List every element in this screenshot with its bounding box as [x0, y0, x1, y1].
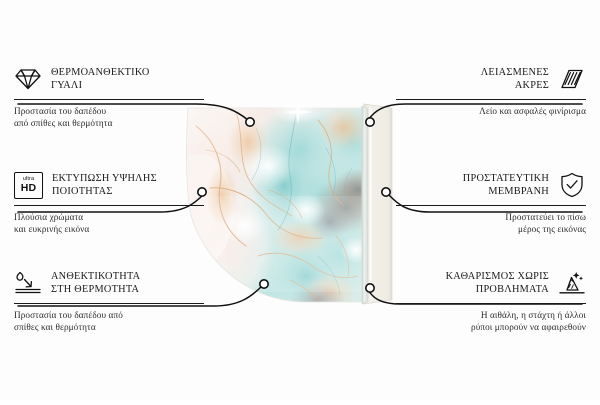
feature-header: ΛΕΙΑΣΜΕΝΕΣ ΑΚΡΕΣ — [396, 64, 586, 94]
connector-dot-left-1 — [246, 118, 254, 126]
feature-divider — [396, 303, 586, 304]
feature-easy-cleaning: ΚΑΘΑΡΙΣΜΟΣ ΧΩΡΙΣ ΠΡΟΒΛΗΜΑΤΑ Η αιθάλη, η … — [396, 268, 586, 334]
feature-description: Η αιθάλη, η στάχτη ή άλλοι ρύποι μπορούν… — [396, 309, 586, 334]
ultra-hd-icon-big-label: HD — [21, 183, 37, 194]
connector-dot-right-2 — [382, 188, 390, 196]
polished-edges-icon — [558, 65, 586, 93]
feature-description: Πλούσια χρώματα και ευκρινής εικόνα — [14, 211, 204, 236]
artwork-outline — [186, 108, 362, 302]
feature-heat-resistance: ΑΝΘΕΚΤΙΚΟΤΗΤΑ ΣΤΗ ΘΕΡΜΟΤΗΤΑ Προστασία το… — [14, 268, 204, 334]
feature-divider — [14, 205, 204, 206]
feature-title: ΛΕΙΑΣΜΕΝΕΣ ΑΚΡΕΣ — [396, 66, 549, 92]
connector-dot-left-3 — [260, 280, 268, 288]
feature-description: Προστατεύει το πίσω μέρος της εικόνας — [396, 211, 586, 236]
easy-clean-icon — [558, 269, 586, 297]
infographic-stage: ΘΕΡΜΟΑΝΘΕΚΤΙΚΟ ΓΥΑΛΙ Προστασία του δαπέδ… — [0, 0, 600, 400]
feature-divider — [14, 303, 204, 304]
feature-description: Λείο και ασφαλές φινίρισμα — [396, 105, 586, 117]
connector-dot-right-3 — [366, 284, 374, 292]
glass-sheen — [185, 104, 367, 306]
feature-title: ΘΕΡΜΟΑΝΘΕΚΤΙΚΟ ΓΥΑΛΙ — [51, 66, 204, 92]
feature-title: ΠΡΟΣΤΑΤΕΥΤΙΚΗ ΜΕΜΒΡΑΝΗ — [396, 172, 549, 198]
feature-header: ΑΝΘΕΚΤΙΚΟΤΗΤΑ ΣΤΗ ΘΕΡΜΟΤΗΤΑ — [14, 268, 204, 298]
feature-title: ΚΑΘΑΡΙΣΜΟΣ ΧΩΡΙΣ ΠΡΟΒΛΗΜΑΤΑ — [396, 270, 549, 296]
shield-check-icon — [558, 171, 586, 199]
connector-dot-right-1 — [366, 118, 374, 126]
light-flare — [272, 100, 324, 124]
feature-header: ΚΑΘΑΡΙΣΜΟΣ ΧΩΡΙΣ ΠΡΟΒΛΗΜΑΤΑ — [396, 268, 586, 298]
feature-header: ultra HD ΕΚΤΥΠΩΣΗ ΥΨΗΛΗΣ ΠΟΙΟΤΗΤΑΣ — [14, 170, 204, 200]
ultra-hd-icon: ultra HD — [14, 172, 43, 199]
feature-divider — [396, 99, 586, 100]
feature-title: ΑΝΘΕΚΤΙΚΟΤΗΤΑ ΣΤΗ ΘΕΡΜΟΤΗΤΑ — [51, 270, 204, 296]
feature-header: ΘΕΡΜΟΑΝΘΕΚΤΙΚΟ ΓΥΑΛΙ — [14, 64, 204, 94]
feature-heat-resistant-glass: ΘΕΡΜΟΑΝΘΕΚΤΙΚΟ ΓΥΑΛΙ Προστασία του δαπέδ… — [14, 64, 204, 130]
feature-title: ΕΚΤΥΠΩΣΗ ΥΨΗΛΗΣ ΠΟΙΟΤΗΤΑΣ — [52, 172, 204, 198]
feature-divider — [14, 99, 204, 100]
heat-resistance-icon — [14, 269, 42, 297]
feature-protective-membrane: ΠΡΟΣΤΑΤΕΥΤΙΚΗ ΜΕΜΒΡΑΝΗ Προστατεύει το πί… — [396, 170, 586, 236]
glass-edge — [362, 106, 368, 304]
feature-polished-edges: ΛΕΙΑΣΜΕΝΕΣ ΑΚΡΕΣ Λείο και ασφαλές φινίρι… — [396, 64, 586, 117]
feature-divider — [396, 205, 586, 206]
feature-high-quality-print: ultra HD ΕΚΤΥΠΩΣΗ ΥΨΗΛΗΣ ΠΟΙΟΤΗΤΑΣ Πλούσ… — [14, 170, 204, 236]
diamond-icon — [14, 65, 42, 93]
feature-header: ΠΡΟΣΤΑΤΕΥΤΙΚΗ ΜΕΜΒΡΑΝΗ — [396, 170, 586, 200]
panel-back-sheet — [364, 104, 392, 304]
feature-description: Προστασία του δαπέδου από σπίθες και θερ… — [14, 309, 204, 334]
feature-description: Προστασία του δαπέδου από σπίθες και θερ… — [14, 105, 204, 130]
